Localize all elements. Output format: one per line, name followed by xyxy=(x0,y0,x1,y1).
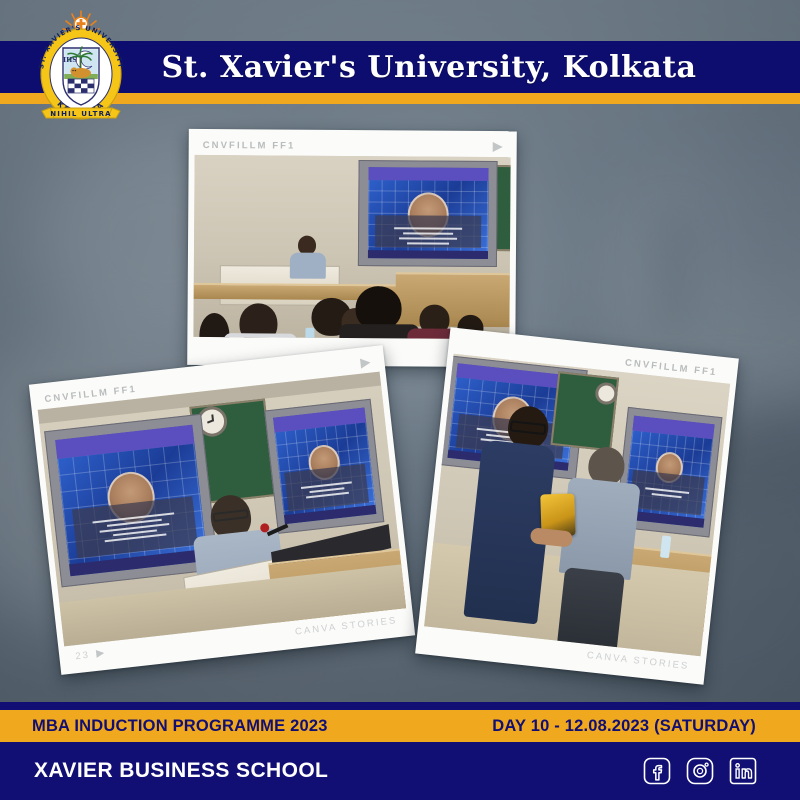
instagram-label: Instagram xyxy=(685,786,686,787)
linkedin-icon[interactable]: LinkedIn xyxy=(728,756,758,786)
instagram-icon[interactable]: Instagram xyxy=(685,756,715,786)
footer-gold-content: MBA INDUCTION PROGRAMME 2023 DAY 10 - 12… xyxy=(0,710,800,742)
photo-image-speaker-podium xyxy=(38,372,406,647)
photo-speaker-at-podium[interactable]: CNVFILLM FF1 xyxy=(29,345,415,675)
school-name-label: XAVIER BUSINESS SCHOOL xyxy=(34,759,328,783)
play-triangle-icon xyxy=(96,649,105,658)
poster-canvas: St. Xavier's University, Kolkata xyxy=(0,0,800,800)
facebook-icon[interactable]: Facebook xyxy=(642,756,672,786)
photo-image-lecture-hall xyxy=(193,155,510,339)
social-links: Facebook Instagram LinkedIn xyxy=(642,756,766,786)
footer-bottom-row: XAVIER BUSINESS SCHOOL Facebook Instagra… xyxy=(0,742,800,800)
play-triangle-icon xyxy=(360,358,371,369)
play-triangle-icon xyxy=(493,142,503,152)
photo-collage: CNVFILLM FF1 xyxy=(0,0,800,800)
photo-image-felicitation xyxy=(424,354,730,656)
facebook-label: Facebook xyxy=(642,786,643,787)
day-date-label: DAY 10 - 12.08.2023 (SATURDAY) xyxy=(492,717,768,736)
photo-top-caption: CNVFILLM FF1 xyxy=(203,139,296,151)
photo-felicitation-memento[interactable]: CNVFILLM FF1 xyxy=(415,327,739,684)
linkedin-label: LinkedIn xyxy=(728,786,729,787)
photo-left-caption-bottom-left: 23 xyxy=(75,649,91,662)
photo-left-page-number: 23 xyxy=(75,648,105,662)
programme-label: MBA INDUCTION PROGRAMME 2023 xyxy=(32,717,328,736)
